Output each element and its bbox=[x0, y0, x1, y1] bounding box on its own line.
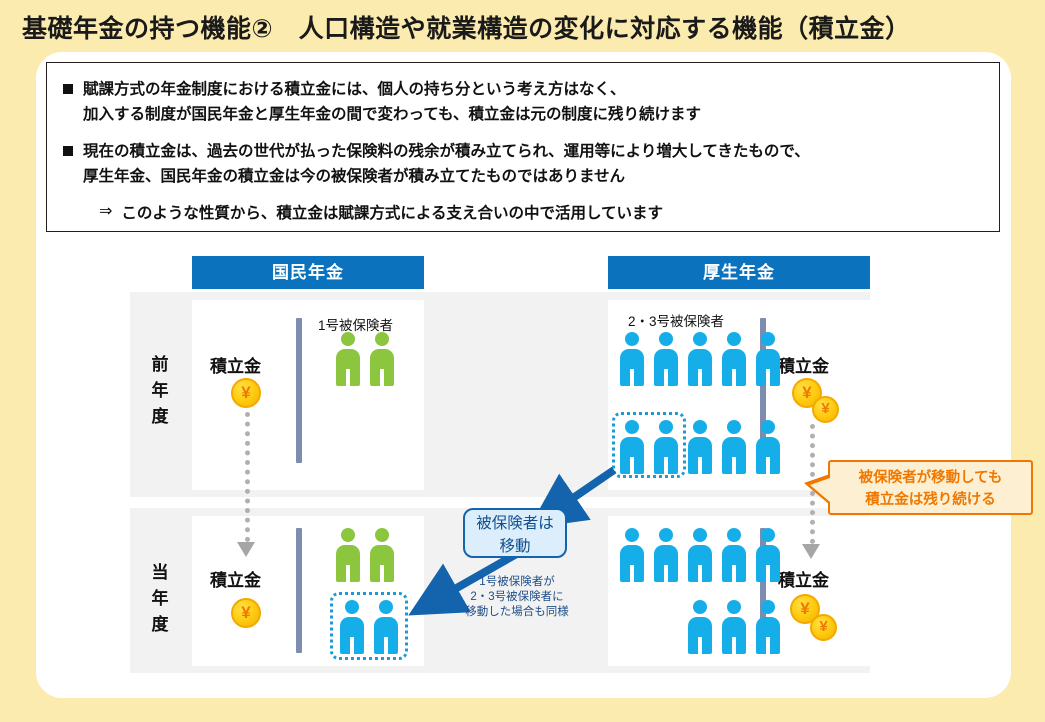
person-leg-gap bbox=[766, 369, 770, 386]
bullet-item-1: 賦課方式の年金制度における積立金には、個人の持ち分という考え方はなく、 加入する… bbox=[63, 77, 701, 127]
subnote-line-1: 1号被保険者が bbox=[452, 575, 582, 590]
callout-insured-moves: 被保険者は 移動 bbox=[463, 508, 567, 558]
person-leg-gap bbox=[664, 565, 668, 582]
person-leg-gap bbox=[380, 565, 384, 582]
bullet-1-line-1: 賦課方式の年金制度における積立金には、個人の持ち分という考え方はなく、 bbox=[83, 77, 701, 102]
person-icon bbox=[620, 332, 644, 386]
fund-label-kokumin-current: 積立金 bbox=[210, 566, 261, 591]
note-reverse-case: 1号被保険者が 2・3号被保険者に 移動した場合も同様 bbox=[452, 575, 582, 620]
person-icon bbox=[620, 528, 644, 582]
bullet-square-icon bbox=[63, 84, 73, 94]
person-leg-gap bbox=[766, 637, 770, 654]
year-label-previous: 前年度 bbox=[140, 352, 180, 430]
person-leg-gap bbox=[630, 369, 634, 386]
bullet-2-text: 現在の積立金は、過去の世代が払った保険料の残余が積み立てられ、運用等により増大し… bbox=[83, 139, 810, 189]
fund-label-kosei-current: 積立金 bbox=[778, 566, 829, 591]
person-icon bbox=[654, 332, 678, 386]
person-icon bbox=[756, 332, 780, 386]
rightwards-double-arrow-icon: ⇒ bbox=[99, 201, 112, 226]
person-head bbox=[727, 528, 741, 542]
bullet-item-3: ⇒ このような性質から、積立金は賦課方式による支え合いの中で活用しています bbox=[99, 201, 663, 226]
caption-insured-kokumin: 1号被保険者 bbox=[318, 314, 393, 334]
person-head bbox=[727, 600, 741, 614]
person-icon bbox=[722, 420, 746, 474]
person-icon bbox=[722, 528, 746, 582]
person-head bbox=[693, 528, 707, 542]
person-head bbox=[761, 528, 775, 542]
person-leg-gap bbox=[766, 457, 770, 474]
slide-root: 基礎年金の持つ機能② 人口構造や就業構造の変化に対応する機能（積立金） 賦課方式… bbox=[0, 0, 1045, 722]
fund-carryover-arrow-kokumin bbox=[236, 412, 256, 542]
bullet-3-line-1: このような性質から、積立金は賦課方式による支え合いの中で活用しています bbox=[121, 201, 663, 226]
bullet-1-text: 賦課方式の年金制度における積立金には、個人の持ち分という考え方はなく、 加入する… bbox=[83, 77, 701, 127]
year-label-current: 当年度 bbox=[140, 560, 180, 638]
scheme-header-kosei: 厚生年金 bbox=[608, 256, 870, 289]
page-title: 基礎年金の持つ機能② 人口構造や就業構造の変化に対応する機能（積立金） bbox=[22, 8, 1032, 50]
person-icon bbox=[756, 528, 780, 582]
subnote-line-3: 移動した場合も同様 bbox=[452, 605, 582, 620]
person-icon bbox=[370, 332, 394, 386]
divider-bar-kokumin-current bbox=[296, 528, 302, 653]
callout-blue-line-1: 被保険者は bbox=[465, 512, 565, 535]
bullet-item-2: 現在の積立金は、過去の世代が払った保険料の残余が積み立てられ、運用等により増大し… bbox=[63, 139, 810, 189]
person-icon bbox=[370, 528, 394, 582]
person-icon bbox=[756, 420, 780, 474]
person-head bbox=[761, 600, 775, 614]
dotted-line bbox=[245, 412, 250, 542]
person-leg-gap bbox=[664, 369, 668, 386]
person-head bbox=[341, 528, 355, 542]
bullet-square-icon bbox=[63, 146, 73, 156]
person-leg-gap bbox=[346, 565, 350, 582]
fund-label-kosei-previous: 積立金 bbox=[778, 352, 829, 377]
subnote-line-2: 2・3号被保険者に bbox=[452, 590, 582, 605]
person-leg-gap bbox=[380, 369, 384, 386]
person-leg-gap bbox=[732, 369, 736, 386]
person-leg-gap bbox=[630, 565, 634, 582]
person-head bbox=[761, 420, 775, 434]
person-leg-gap bbox=[698, 457, 702, 474]
person-leg-gap bbox=[732, 457, 736, 474]
person-head bbox=[659, 332, 673, 346]
moving-insured-highlight-current bbox=[330, 592, 408, 660]
person-icon bbox=[336, 332, 360, 386]
person-head bbox=[375, 528, 389, 542]
bullet-2-line-1: 現在の積立金は、過去の世代が払った保険料の残余が積み立てられ、運用等により増大し… bbox=[83, 139, 810, 164]
person-icon bbox=[688, 600, 712, 654]
person-head bbox=[727, 332, 741, 346]
person-leg-gap bbox=[732, 565, 736, 582]
yen-coin-icon: ¥ bbox=[810, 614, 837, 641]
person-head bbox=[341, 332, 355, 346]
person-head bbox=[761, 332, 775, 346]
yen-coin-icon: ¥ bbox=[231, 598, 261, 628]
person-leg-gap bbox=[698, 637, 702, 654]
person-head bbox=[625, 528, 639, 542]
summary-text-box: 賦課方式の年金制度における積立金には、個人の持ち分という考え方はなく、 加入する… bbox=[46, 62, 1000, 232]
callout-blue-line-2: 移動 bbox=[465, 535, 565, 558]
person-head bbox=[693, 420, 707, 434]
yen-coin-icon: ¥ bbox=[231, 378, 261, 408]
person-leg-gap bbox=[698, 565, 702, 582]
fund-label-kokumin-previous: 積立金 bbox=[210, 352, 261, 377]
bullet-2-line-2: 厚生年金、国民年金の積立金は今の被保険者が積み立てたものではありません bbox=[83, 164, 810, 189]
person-icon bbox=[722, 600, 746, 654]
person-leg-gap bbox=[732, 637, 736, 654]
callout-orange-line-2: 積立金は残り続ける bbox=[830, 489, 1031, 511]
person-head bbox=[659, 528, 673, 542]
arrow-head-down-icon bbox=[237, 542, 255, 557]
divider-bar-kokumin-previous bbox=[296, 318, 302, 463]
person-leg-gap bbox=[766, 565, 770, 582]
person-icon bbox=[654, 528, 678, 582]
person-icon bbox=[756, 600, 780, 654]
arrow-head-down-icon bbox=[802, 544, 820, 559]
person-head bbox=[693, 600, 707, 614]
yen-coin-icon: ¥ bbox=[812, 396, 839, 423]
callout-fund-remains: 被保険者が移動しても 積立金は残り続ける bbox=[828, 460, 1033, 515]
moving-insured-highlight-previous bbox=[612, 412, 686, 478]
scheme-header-kokumin: 国民年金 bbox=[192, 256, 424, 289]
caption-insured-kosei: 2・3号被保険者 bbox=[628, 310, 724, 330]
callout-orange-line-1: 被保険者が移動しても bbox=[830, 467, 1031, 489]
person-icon bbox=[688, 332, 712, 386]
person-icon bbox=[336, 528, 360, 582]
person-head bbox=[727, 420, 741, 434]
person-leg-gap bbox=[698, 369, 702, 386]
person-icon bbox=[688, 528, 712, 582]
person-head bbox=[375, 332, 389, 346]
person-head bbox=[625, 332, 639, 346]
person-leg-gap bbox=[346, 369, 350, 386]
bullet-1-line-2: 加入する制度が国民年金と厚生年金の間で変わっても、積立金は元の制度に残り続けます bbox=[83, 102, 701, 127]
person-head bbox=[693, 332, 707, 346]
person-icon bbox=[688, 420, 712, 474]
person-icon bbox=[722, 332, 746, 386]
